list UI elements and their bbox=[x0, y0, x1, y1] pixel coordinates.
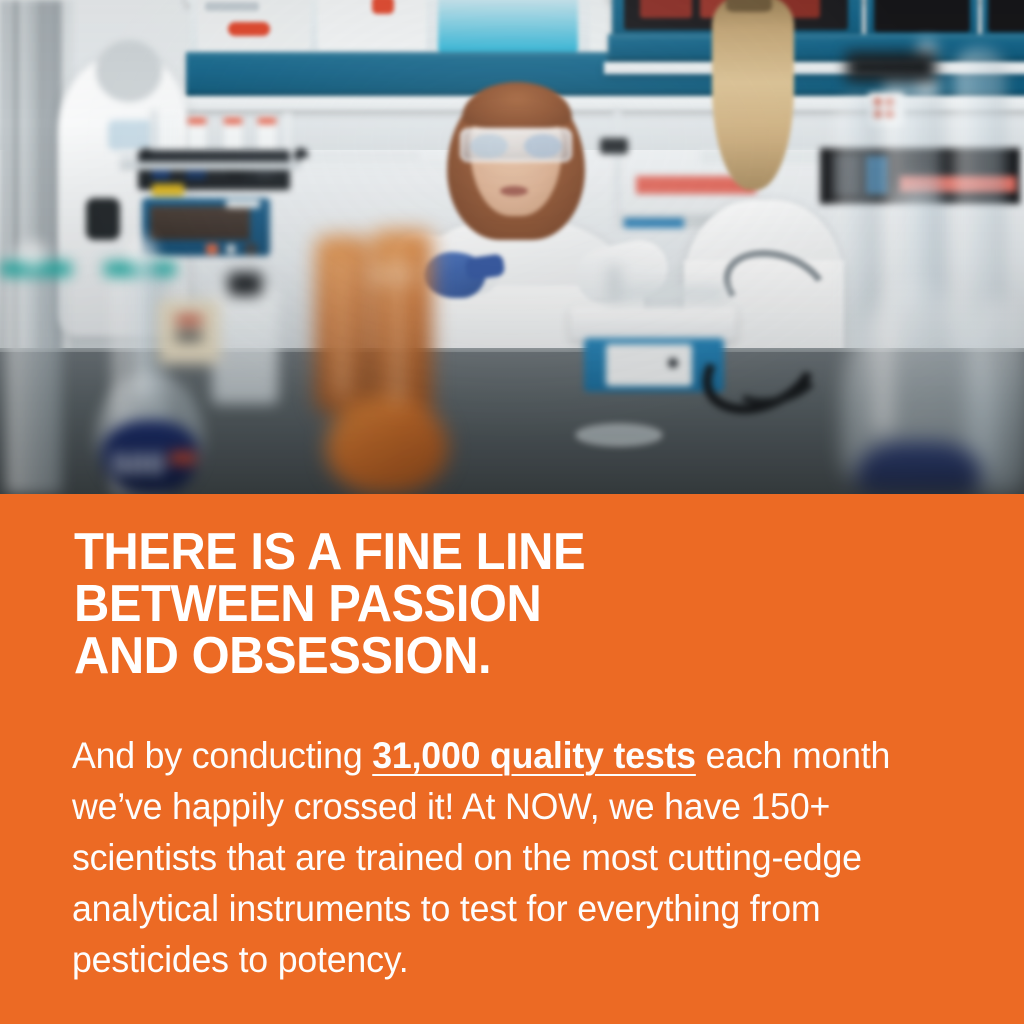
blonde-hair bbox=[712, 0, 794, 190]
headline: THERE IS A FINE LINE BETWEEN PASSION AND… bbox=[74, 526, 901, 682]
body-copy: And by conducting 31,000 quality tests e… bbox=[72, 730, 904, 985]
social-media-card: 500 bbox=[0, 0, 1024, 1024]
lab-photo: 500 bbox=[0, 0, 1024, 494]
orange-text-panel: THERE IS A FINE LINE BETWEEN PASSION AND… bbox=[0, 494, 1024, 1024]
body-copy-before: And by conducting bbox=[72, 735, 372, 776]
quality-tests-highlight: 31,000 quality tests bbox=[372, 735, 696, 776]
